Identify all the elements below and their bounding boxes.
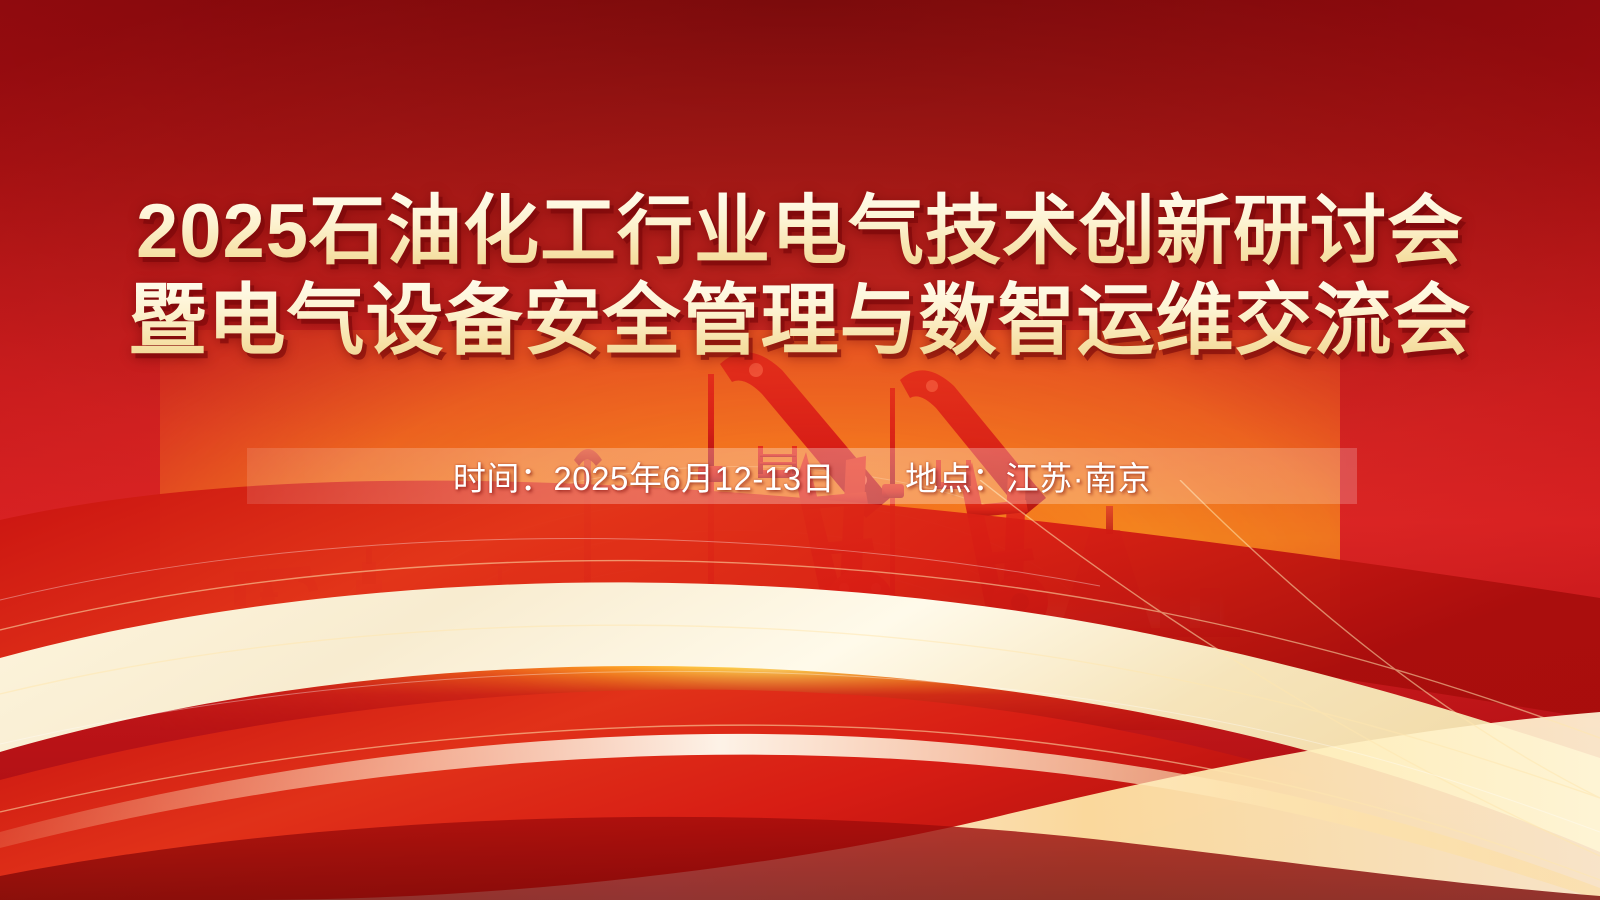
event-date: 时间：2025年6月12-13日 xyxy=(453,452,835,500)
title-line-2: 暨电气设备安全管理与数智运维交流会 xyxy=(0,276,1600,364)
event-info-bar: 时间：2025年6月12-13日 地点：江苏·南京 xyxy=(247,448,1357,504)
banner-title: 2025石油化工行业电气技术创新研讨会 暨电气设备安全管理与数智运维交流会 xyxy=(0,188,1600,364)
event-location: 地点：江苏·南京 xyxy=(905,452,1151,500)
conference-banner: 2025石油化工行业电气技术创新研讨会 暨电气设备安全管理与数智运维交流会 时间… xyxy=(0,0,1600,900)
ribbon-waves xyxy=(0,480,1600,900)
title-line-1: 2025石油化工行业电气技术创新研讨会 xyxy=(0,188,1600,276)
